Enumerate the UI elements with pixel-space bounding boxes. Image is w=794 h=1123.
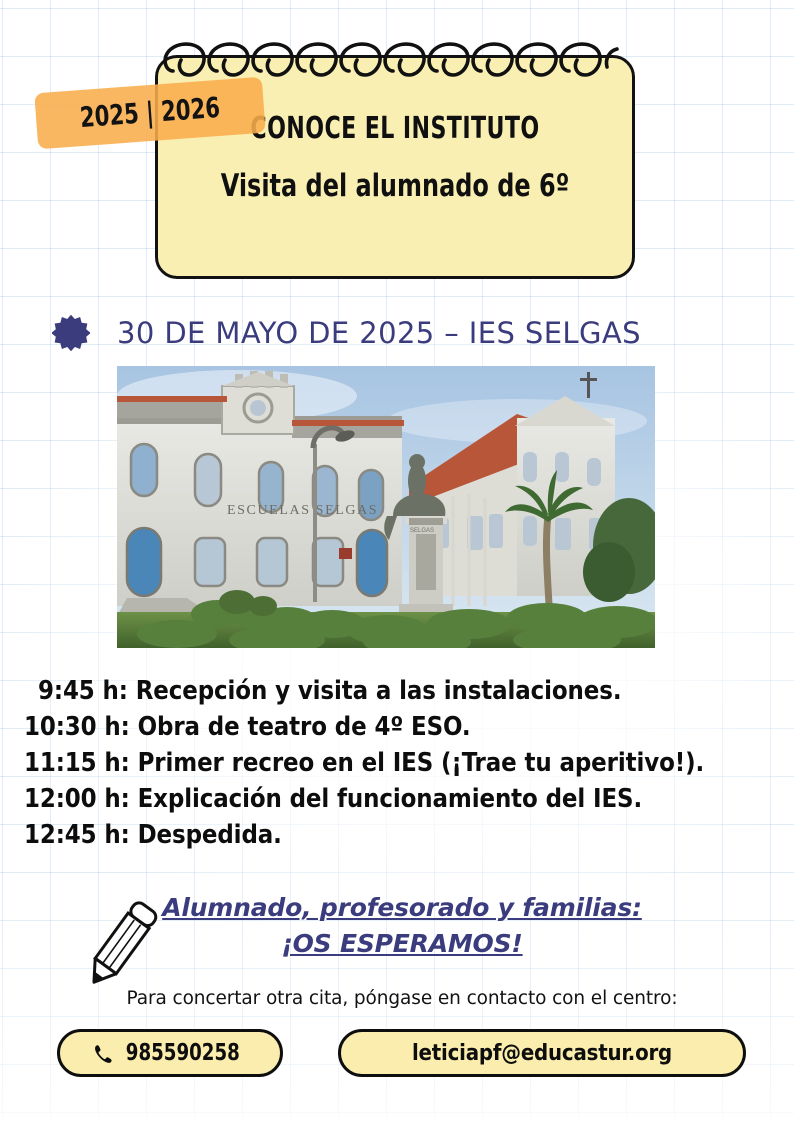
spiral-binding-icon: [155, 27, 635, 87]
schedule-item: 10:30 h: Obra de teatro de 4º ESO.: [24, 709, 780, 745]
event-date-row: 30 DE MAYO DE 2025 – IES SELGAS: [52, 305, 752, 361]
schedule-item: 11:15 h: Primer recreo en el IES (¡Trae …: [24, 745, 780, 781]
email-address-text: leticiapf@educastur.org: [412, 1041, 672, 1066]
schedule-item: 9:45 h: Recepción y visita a las instala…: [24, 673, 780, 709]
svg-text:ESCUELAS SELGAS: ESCUELAS SELGAS: [227, 503, 378, 518]
phone-number-text: 985590258: [126, 1040, 240, 1066]
schedule-item: 12:00 h: Explicación del funcionamiento …: [24, 781, 780, 817]
event-date-text: 30 DE MAYO DE 2025 – IES SELGAS: [117, 316, 641, 350]
phone-contact-pill[interactable]: 985590258: [57, 1029, 283, 1077]
poster-subtitle: Visita del alumnado de 6º: [189, 168, 602, 204]
pencil-icon: [78, 893, 164, 997]
school-year-label: 2025 | 2026: [53, 89, 246, 136]
schedule-item: 12:45 h: Despedida.: [24, 817, 780, 853]
starburst-icon: [52, 314, 90, 352]
svg-text:SELGAS: SELGAS: [410, 528, 434, 534]
notebook-card: CONOCE EL INSTITUTO Visita del alumnado …: [155, 27, 635, 279]
school-building-photo: ESCUELAS SELGAS: [117, 366, 655, 648]
phone-icon: [92, 1042, 114, 1066]
email-contact-pill[interactable]: leticiapf@educastur.org: [338, 1029, 746, 1077]
event-schedule-list: 9:45 h: Recepción y visita a las instala…: [24, 673, 780, 853]
